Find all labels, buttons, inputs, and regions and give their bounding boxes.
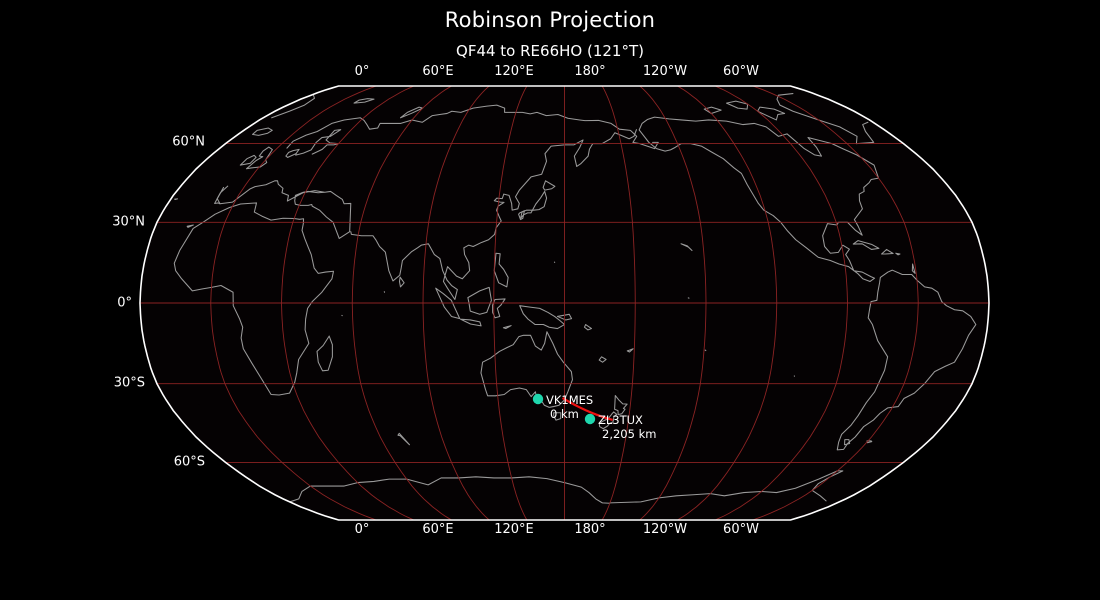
station-callsign: VK1MES (546, 393, 593, 407)
coastline-path (705, 350, 706, 351)
station-label-1: ZL3TUX2,205 km (598, 413, 656, 441)
map-figure: Robinson Projection QF44 to RE66HO (121°… (0, 0, 1100, 600)
station-label-0: VK1MES0 km (546, 393, 593, 421)
station-distance: 2,205 km (598, 427, 656, 441)
station-callsign: ZL3TUX (598, 413, 656, 427)
map-canvas (0, 0, 1100, 600)
coastline-path (175, 199, 178, 200)
station-marker[interactable] (533, 394, 543, 404)
station-distance: 0 km (546, 407, 593, 421)
